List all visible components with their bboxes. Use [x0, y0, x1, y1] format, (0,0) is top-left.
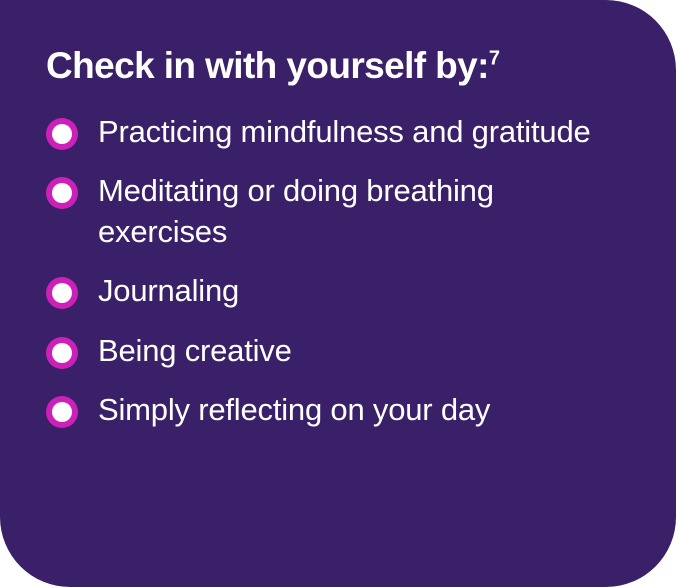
list-item: Practicing mindfulness and gratitude	[46, 111, 636, 152]
list-item: Meditating or doing breathing exercises	[46, 170, 636, 252]
list-item: Journaling	[46, 270, 636, 311]
filled-ring-bullet-icon	[46, 177, 78, 209]
footnote-marker: 7	[489, 48, 500, 70]
list-item-label: Simply reflecting on your day	[98, 389, 490, 430]
check-in-card: Check in with yourself by:7 Practicing m…	[0, 0, 676, 587]
page-title: Check in with yourself by:7	[46, 46, 636, 87]
filled-ring-bullet-icon	[46, 118, 78, 150]
filled-ring-bullet-icon	[46, 396, 78, 428]
list-item-label: Being creative	[98, 330, 292, 371]
list-item-label: Journaling	[98, 270, 239, 311]
check-in-list: Practicing mindfulness and gratitude Med…	[46, 111, 636, 430]
list-item: Being creative	[46, 330, 636, 371]
filled-ring-bullet-icon	[46, 277, 78, 309]
list-item: Simply reflecting on your day	[46, 389, 636, 430]
filled-ring-bullet-icon	[46, 337, 78, 369]
list-item-label: Meditating or doing breathing exercises	[98, 170, 598, 252]
list-item-label: Practicing mindfulness and gratitude	[98, 111, 591, 152]
page-title-text: Check in with yourself by:	[46, 45, 489, 86]
